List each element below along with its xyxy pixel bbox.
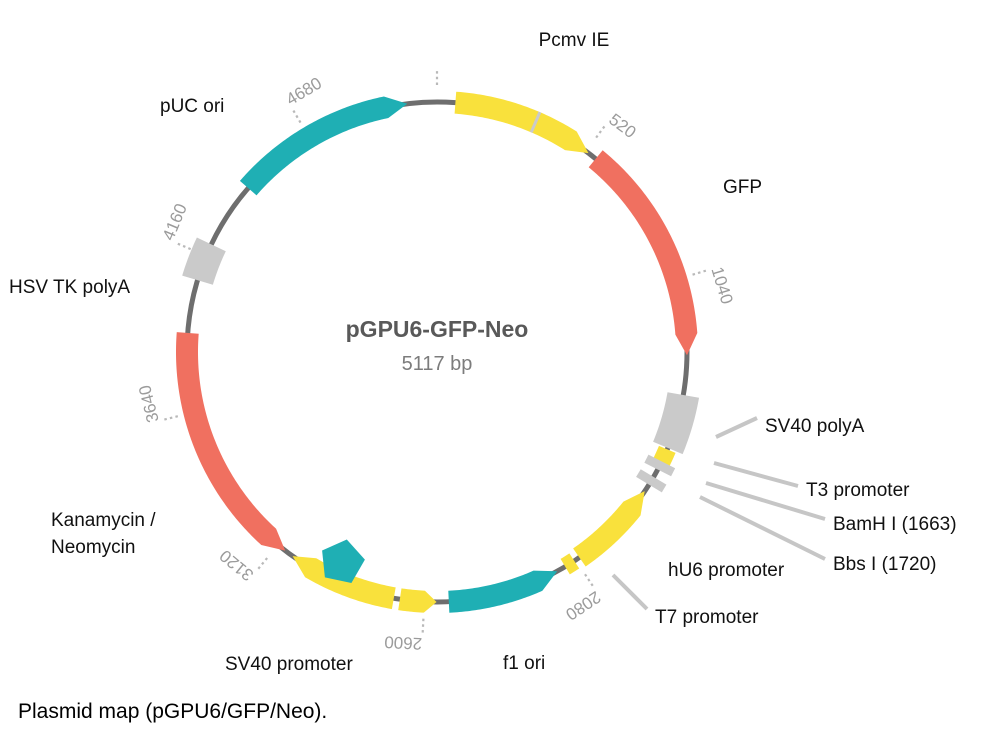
coordinate-tick-4680: 4680 [283, 74, 325, 123]
coordinate-tick-1040: 1040 [693, 265, 737, 307]
coordinate-tick-4160: 4160 [159, 201, 191, 249]
feature-shape [589, 150, 698, 355]
tick-label: 3120 [216, 546, 257, 585]
feature-label-sv40-polya: SV40 polyA [765, 416, 865, 437]
feature-label-t7-promoter: T7 promoter [655, 607, 759, 628]
feature-pcmv-ie[interactable] [455, 92, 589, 153]
feature-shape [653, 392, 699, 454]
feature-label-puc-ori: pUC ori [160, 96, 224, 117]
tick-mark [176, 243, 191, 249]
feature-label-bbs-i-1720: Bbs I (1720) [833, 554, 937, 575]
feature-label-t3-promoter: T3 promoter [806, 480, 910, 501]
plasmid-name: pGPU6-GFP-Neo [346, 316, 529, 342]
feature-shape [398, 588, 436, 612]
feature-bbs-i-1720[interactable] [638, 473, 664, 488]
restriction-site-tick [638, 473, 664, 488]
feature-puc-ori[interactable] [240, 96, 407, 195]
feature-sv40-polya[interactable] [653, 392, 699, 454]
coordinate-tick-2600: 2600 [384, 619, 424, 653]
feature-hsv-tk-polya[interactable] [182, 238, 226, 285]
feature-shape [448, 571, 557, 613]
tick-mark [162, 416, 178, 420]
feature-shape [182, 238, 226, 285]
tick-label: 4160 [159, 201, 191, 243]
coordinate-tick-3640: 3640 [135, 383, 178, 424]
feature-label-f1-ori: f1 ori [503, 653, 545, 674]
feature-kanamycin-neomycin[interactable] [176, 332, 285, 551]
feature-shape [573, 491, 645, 566]
coordinate-tick-2080: 2080 [562, 574, 604, 624]
leader-line [700, 497, 825, 559]
tick-label: 3640 [135, 383, 163, 424]
tick-label: 520 [605, 110, 639, 142]
feature-shape [176, 332, 285, 551]
feature-unlabeled[interactable] [398, 588, 436, 612]
plasmid-size: 5117 bp [402, 353, 473, 375]
plasmid-map-figure: 5201040208026003120364041604680 SV40 pol… [0, 0, 982, 744]
feature-label-sv40-promoter: SV40 promoter [225, 654, 353, 675]
tick-mark [292, 109, 300, 123]
feature-shape [240, 96, 407, 195]
feature-label-pcmv-ie: Pcmv IE [539, 30, 610, 51]
tick-label: 1040 [707, 265, 736, 307]
feature-label-bamh-i-1663: BamH I (1663) [833, 514, 957, 535]
floating-pentagon-marker[interactable] [322, 540, 365, 584]
tick-label: 2080 [562, 587, 604, 624]
feature-hu6-promoter[interactable] [573, 491, 645, 566]
leader-line [613, 575, 647, 609]
feature-gfp[interactable] [589, 150, 698, 355]
tick-mark [585, 574, 594, 587]
feature-shape [455, 92, 589, 153]
tick-label: 4680 [283, 74, 325, 110]
plasmid-diagram: 5201040208026003120364041604680 SV40 pol… [0, 0, 982, 744]
feature-f1-ori[interactable] [448, 571, 557, 613]
tick-mark [257, 558, 267, 570]
coordinate-tick-3120: 3120 [216, 546, 267, 585]
leader-line [716, 418, 757, 437]
figure-caption: Plasmid map (pGPU6/GFP/Neo). [18, 700, 327, 723]
leader-line [714, 463, 798, 486]
tick-mark [596, 125, 606, 138]
tick-mark [693, 270, 708, 275]
feature-labels-layer: SV40 polyAT3 promoterBamH I (1663)Bbs I … [9, 30, 957, 675]
tick-label: 2600 [384, 632, 423, 653]
tick-mark [423, 619, 424, 635]
feature-label-kanamycin: Kanamycin / [51, 510, 156, 531]
feature-label-neomycin: Neomycin [51, 537, 135, 558]
feature-label-gfp: GFP [723, 177, 762, 198]
feature-label-hu6-promoter: hU6 promoter [668, 560, 785, 581]
floating-marker-layer [322, 540, 365, 584]
feature-label-hsv-tk-polya: HSV TK polyA [9, 277, 130, 298]
coordinate-tick-520: 520 [596, 110, 639, 142]
